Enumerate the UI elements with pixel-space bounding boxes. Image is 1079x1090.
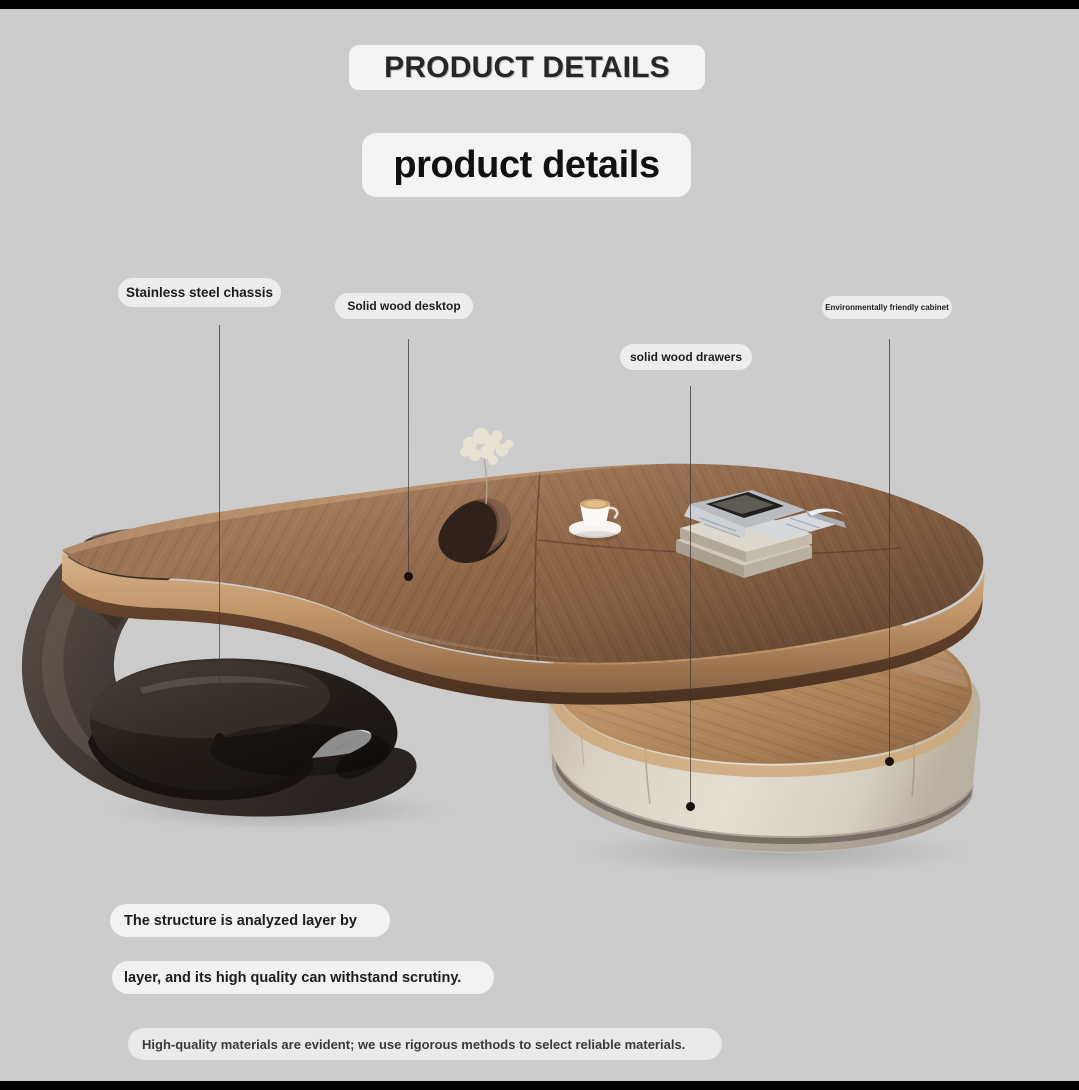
caption-line-3: High-quality materials are evident; we u… [128,1028,722,1060]
callout-solid-wood-drawers: solid wood drawers [620,344,752,370]
top-letterbox-bar [0,0,1079,9]
leader-line-solid-wood-desktop [408,339,409,576]
callout-label-2: solid wood drawers [630,350,742,364]
callout-label-0: Stainless steel chassis [126,285,273,300]
leader-dot-environmentally-friendly-cabinet [885,757,894,766]
page-title: PRODUCT DETAILS [349,45,705,90]
callout-environmentally-friendly-cabinet: Environmentally friendly cabinet [822,296,952,319]
callout-solid-wood-desktop: Solid wood desktop [335,293,473,319]
caption-text-3: High-quality materials are evident; we u… [142,1037,685,1052]
product-detail-page: PRODUCT DETAILS product details [0,0,1079,1090]
page-subtitle: product details [362,133,691,197]
page-title-text: PRODUCT DETAILS [384,51,670,85]
caption-text-2: layer, and its high quality can withstan… [124,970,461,986]
page-subtitle-text: product details [393,144,659,187]
callout-stainless-steel-chassis: Stainless steel chassis [118,278,281,307]
leader-line-solid-wood-drawers [690,386,691,806]
leader-dot-solid-wood-drawers [686,802,695,811]
leader-dot-solid-wood-desktop [404,572,413,581]
flower-head [460,428,514,465]
leader-dot-stainless-steel-chassis [215,733,224,742]
leader-line-environmentally-friendly-cabinet [889,339,890,761]
caption-line-2: layer, and its high quality can withstan… [112,961,494,994]
caption-text-1: The structure is analyzed layer by [124,913,357,929]
leader-line-stainless-steel-chassis [219,325,220,737]
cup-shadow [574,531,618,541]
callout-label-1: Solid wood desktop [347,299,460,313]
caption-line-1: The structure is analyzed layer by [110,904,390,937]
callout-label-3: Environmentally friendly cabinet [825,303,949,312]
bottom-letterbox-bar [0,1081,1079,1090]
product-illustration [0,400,1079,900]
